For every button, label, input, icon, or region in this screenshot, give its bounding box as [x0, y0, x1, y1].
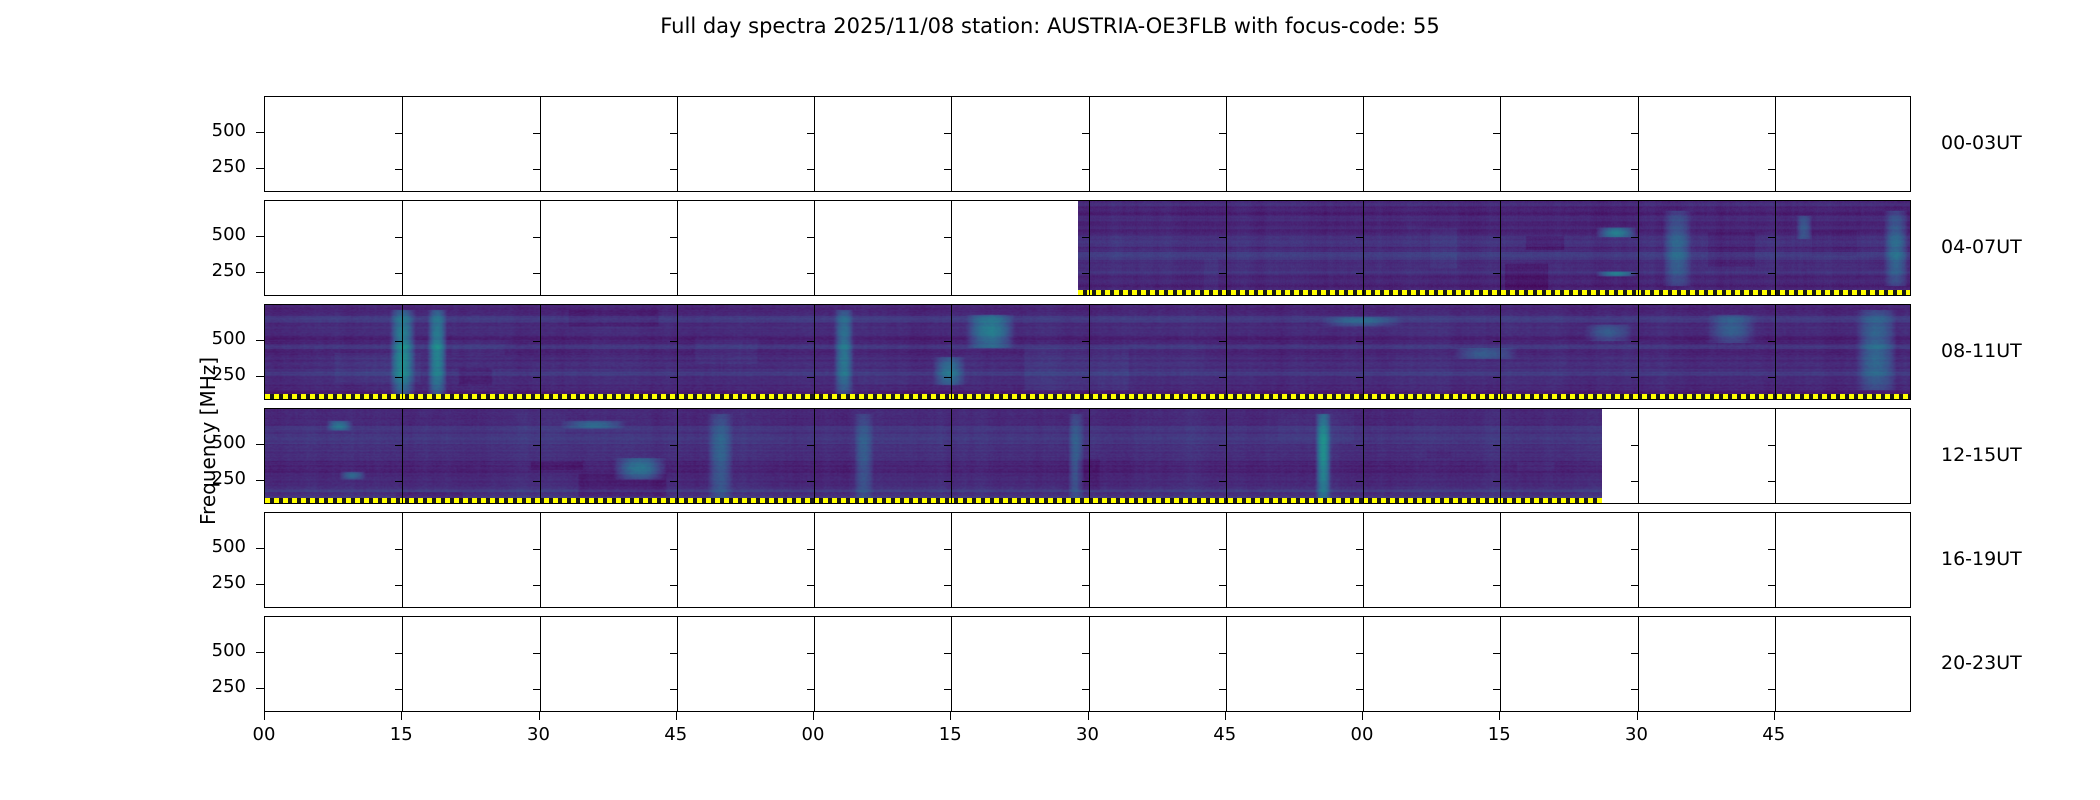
segment-separator: [1638, 513, 1639, 607]
y-tick-inner: [395, 341, 402, 342]
x-tick: [401, 712, 402, 720]
y-tick-inner: [1768, 133, 1775, 134]
y-tick-inner: [533, 481, 540, 482]
y-tick-inner: [944, 445, 951, 446]
segment-separator: [1363, 617, 1364, 711]
y-tick-inner: [1356, 549, 1363, 550]
x-tick: [1362, 712, 1363, 720]
segment-separator: [1500, 97, 1501, 191]
y-tick-inner: [1219, 549, 1226, 550]
y-tick-inner: [1768, 689, 1775, 690]
segment-separator: [677, 513, 678, 607]
segment-separator: [1226, 409, 1227, 503]
spectrogram-row-1215ut: [264, 408, 1911, 504]
y-tick-inner: [1493, 237, 1500, 238]
y-tick-inner: [1631, 133, 1638, 134]
segment-separator: [814, 409, 815, 503]
y-tick-inner: [1082, 689, 1089, 690]
y-tick-inner: [944, 377, 951, 378]
segment-separator: [1638, 201, 1639, 295]
x-tick: [950, 712, 951, 720]
y-tick-inner: [1082, 341, 1089, 342]
segment-separator: [1363, 513, 1364, 607]
segment-separator: [1500, 513, 1501, 607]
y-tick-label: 250: [154, 156, 246, 177]
segment-separator: [814, 617, 815, 711]
y-tick-inner: [1493, 653, 1500, 654]
segment-separator: [1500, 617, 1501, 711]
segment-separator: [1500, 201, 1501, 295]
y-tick-inner: [1356, 377, 1363, 378]
y-tick-inner: [1356, 169, 1363, 170]
segment-separator: [1089, 513, 1090, 607]
y-tick: [256, 548, 264, 549]
y-tick-inner: [395, 377, 402, 378]
x-tick: [1225, 712, 1226, 720]
y-tick-inner: [1219, 653, 1226, 654]
y-tick-inner: [1768, 341, 1775, 342]
y-tick-inner: [1493, 445, 1500, 446]
y-tick-inner: [1631, 341, 1638, 342]
segment-separator: [1226, 305, 1227, 399]
y-tick: [256, 132, 264, 133]
y-tick-label: 500: [154, 640, 246, 661]
y-tick-inner: [1219, 169, 1226, 170]
y-tick-inner: [944, 273, 951, 274]
y-tick-inner: [1356, 273, 1363, 274]
y-tick: [256, 652, 264, 653]
y-tick-inner: [1082, 481, 1089, 482]
y-tick-inner: [1356, 133, 1363, 134]
x-tick-label: 45: [1734, 724, 1814, 745]
y-tick-inner: [1631, 689, 1638, 690]
y-tick-inner: [1493, 377, 1500, 378]
segment-separator: [1089, 97, 1090, 191]
x-tick: [1088, 712, 1089, 720]
y-tick: [256, 584, 264, 585]
segment-separator: [1500, 409, 1501, 503]
segment-separator: [1638, 305, 1639, 399]
x-tick-label: 45: [636, 724, 716, 745]
y-tick-inner: [1082, 445, 1089, 446]
y-tick-label: 250: [154, 364, 246, 385]
row-label-1215ut: 12-15UT: [1941, 444, 2022, 466]
y-tick-inner: [1082, 273, 1089, 274]
segment-separator: [1638, 617, 1639, 711]
segment-separator: [1363, 201, 1364, 295]
segment-separator: [1775, 305, 1776, 399]
segment-separator: [814, 201, 815, 295]
segment-separator: [402, 305, 403, 399]
y-tick: [256, 688, 264, 689]
y-tick-inner: [670, 237, 677, 238]
y-tick-inner: [1082, 237, 1089, 238]
segment-separator: [1775, 201, 1776, 295]
segment-separator: [1089, 617, 1090, 711]
segment-separator: [1089, 201, 1090, 295]
segment-separator: [951, 305, 952, 399]
y-tick-inner: [395, 237, 402, 238]
segment-separator: [951, 201, 952, 295]
y-tick-inner: [1219, 445, 1226, 446]
y-tick-label: 250: [154, 572, 246, 593]
bottom-marker-line: [265, 498, 1602, 503]
y-tick-inner: [1768, 653, 1775, 654]
spectrogram-data: [265, 409, 1602, 503]
y-tick-inner: [1356, 689, 1363, 690]
y-tick-inner: [1219, 237, 1226, 238]
y-tick-inner: [533, 549, 540, 550]
x-tick-label: 30: [1597, 724, 1677, 745]
y-tick-inner: [944, 549, 951, 550]
y-tick-inner: [1493, 549, 1500, 550]
y-tick-inner: [670, 689, 677, 690]
segment-separator: [677, 201, 678, 295]
segment-separator: [677, 305, 678, 399]
segment-separator: [1226, 617, 1227, 711]
y-tick: [256, 340, 264, 341]
y-tick-inner: [533, 169, 540, 170]
y-tick-inner: [670, 133, 677, 134]
y-tick-label: 250: [154, 676, 246, 697]
y-tick-inner: [533, 341, 540, 342]
segment-separator: [1775, 513, 1776, 607]
y-tick-inner: [807, 273, 814, 274]
y-tick-inner: [944, 689, 951, 690]
segment-separator: [540, 201, 541, 295]
row-label-0811ut: 08-11UT: [1941, 340, 2022, 362]
y-tick-inner: [1768, 481, 1775, 482]
y-tick-inner: [807, 689, 814, 690]
y-tick-inner: [1356, 341, 1363, 342]
y-tick-label: 500: [154, 224, 246, 245]
x-tick-label: 00: [773, 724, 853, 745]
y-tick-inner: [395, 169, 402, 170]
spectrogram-data: [1078, 201, 1911, 295]
segment-separator: [1363, 97, 1364, 191]
segment-separator: [677, 97, 678, 191]
y-tick-inner: [1219, 273, 1226, 274]
y-tick-inner: [533, 585, 540, 586]
x-tick: [1774, 712, 1775, 720]
spectrogram-canvas: [1078, 201, 1911, 295]
y-tick-inner: [807, 133, 814, 134]
y-tick-inner: [533, 237, 540, 238]
y-tick-inner: [1356, 653, 1363, 654]
segment-separator: [1638, 97, 1639, 191]
y-tick-inner: [1631, 273, 1638, 274]
y-tick-label: 250: [154, 468, 246, 489]
y-tick-inner: [1082, 585, 1089, 586]
y-tick-inner: [1493, 169, 1500, 170]
segment-separator: [1089, 305, 1090, 399]
y-tick: [256, 272, 264, 273]
segment-separator: [402, 617, 403, 711]
segment-separator: [814, 513, 815, 607]
segment-separator: [1089, 409, 1090, 503]
segment-separator: [1638, 409, 1639, 503]
y-tick-inner: [533, 653, 540, 654]
spectrogram-figure: Full day spectra 2025/11/08 station: AUS…: [0, 0, 2100, 800]
y-tick-inner: [1631, 481, 1638, 482]
y-tick-inner: [944, 585, 951, 586]
y-tick-inner: [1356, 481, 1363, 482]
y-tick-inner: [395, 585, 402, 586]
row-label-0003ut: 00-03UT: [1941, 132, 2022, 154]
y-tick-inner: [807, 653, 814, 654]
y-tick-inner: [533, 689, 540, 690]
y-tick-inner: [670, 169, 677, 170]
segment-separator: [540, 617, 541, 711]
y-tick-inner: [1219, 133, 1226, 134]
y-tick-inner: [1493, 341, 1500, 342]
y-tick-inner: [395, 689, 402, 690]
y-tick: [256, 236, 264, 237]
y-tick-inner: [807, 169, 814, 170]
spectrogram-canvas: [265, 409, 1602, 503]
y-tick-inner: [1219, 481, 1226, 482]
y-tick-inner: [1219, 689, 1226, 690]
spectrogram-row-2023ut: [264, 616, 1911, 712]
segment-separator: [1226, 513, 1227, 607]
y-tick-inner: [1082, 377, 1089, 378]
row-label-1619ut: 16-19UT: [1941, 548, 2022, 570]
y-tick-inner: [395, 133, 402, 134]
x-tick-label: 45: [1185, 724, 1265, 745]
y-tick-inner: [395, 653, 402, 654]
y-tick-inner: [670, 549, 677, 550]
y-tick-inner: [533, 445, 540, 446]
y-tick: [256, 444, 264, 445]
x-tick: [813, 712, 814, 720]
x-tick-label: 15: [361, 724, 441, 745]
y-tick-inner: [533, 133, 540, 134]
x-tick-label: 15: [910, 724, 990, 745]
y-tick-inner: [944, 133, 951, 134]
y-tick-inner: [1631, 237, 1638, 238]
y-tick-inner: [1768, 169, 1775, 170]
row-label-2023ut: 20-23UT: [1941, 652, 2022, 674]
y-tick-inner: [670, 481, 677, 482]
x-tick: [539, 712, 540, 720]
y-tick-inner: [1768, 549, 1775, 550]
y-tick-inner: [395, 445, 402, 446]
spectrogram-row-0407ut: [264, 200, 1911, 296]
y-tick-inner: [1356, 585, 1363, 586]
y-tick-inner: [1631, 653, 1638, 654]
y-tick-inner: [807, 549, 814, 550]
x-tick-label: 00: [1322, 724, 1402, 745]
y-tick-inner: [807, 481, 814, 482]
y-tick-inner: [670, 585, 677, 586]
y-tick-inner: [944, 481, 951, 482]
segment-separator: [677, 617, 678, 711]
y-tick-label: 500: [154, 432, 246, 453]
y-tick-inner: [807, 237, 814, 238]
segment-separator: [1500, 305, 1501, 399]
y-tick-label: 500: [154, 536, 246, 557]
y-tick: [256, 376, 264, 377]
y-tick-inner: [1493, 133, 1500, 134]
x-tick-label: 15: [1459, 724, 1539, 745]
y-tick-inner: [1219, 377, 1226, 378]
y-tick-inner: [1768, 377, 1775, 378]
segment-separator: [951, 409, 952, 503]
x-tick: [1637, 712, 1638, 720]
y-tick-inner: [1768, 273, 1775, 274]
y-tick: [256, 168, 264, 169]
x-tick-label: 00: [224, 724, 304, 745]
y-tick-inner: [395, 481, 402, 482]
y-tick-inner: [944, 237, 951, 238]
y-tick-inner: [807, 341, 814, 342]
segment-separator: [814, 97, 815, 191]
y-tick-inner: [944, 169, 951, 170]
segment-separator: [540, 409, 541, 503]
y-tick-inner: [670, 377, 677, 378]
segment-separator: [540, 513, 541, 607]
segment-separator: [402, 201, 403, 295]
y-tick-inner: [670, 445, 677, 446]
segment-separator: [951, 97, 952, 191]
y-tick-label: 500: [154, 328, 246, 349]
segment-separator: [402, 513, 403, 607]
y-tick-inner: [1082, 653, 1089, 654]
y-tick-inner: [1768, 445, 1775, 446]
y-tick-label: 250: [154, 260, 246, 281]
segment-separator: [1775, 617, 1776, 711]
segment-separator: [1363, 305, 1364, 399]
y-tick-inner: [670, 653, 677, 654]
y-tick-inner: [1631, 585, 1638, 586]
y-tick-inner: [1493, 585, 1500, 586]
y-tick-inner: [533, 377, 540, 378]
y-tick-inner: [1493, 481, 1500, 482]
spectrogram-row-1619ut: [264, 512, 1911, 608]
segment-separator: [1226, 97, 1227, 191]
y-tick-inner: [944, 341, 951, 342]
y-tick-inner: [807, 585, 814, 586]
segment-separator: [402, 409, 403, 503]
x-tick-label: 30: [499, 724, 579, 745]
y-tick-inner: [1356, 445, 1363, 446]
y-tick-inner: [1356, 237, 1363, 238]
y-tick-inner: [807, 377, 814, 378]
y-tick-inner: [1768, 237, 1775, 238]
x-tick: [1499, 712, 1500, 720]
y-tick-inner: [1631, 377, 1638, 378]
y-tick-inner: [1082, 169, 1089, 170]
y-tick-inner: [807, 445, 814, 446]
spectrogram-row-0811ut: [264, 304, 1911, 400]
y-tick-inner: [1493, 273, 1500, 274]
segment-separator: [540, 97, 541, 191]
y-tick-inner: [395, 549, 402, 550]
y-tick-inner: [395, 273, 402, 274]
segment-separator: [951, 617, 952, 711]
y-tick-inner: [1082, 133, 1089, 134]
segment-separator: [951, 513, 952, 607]
segment-separator: [540, 305, 541, 399]
y-tick: [256, 480, 264, 481]
bottom-marker-line: [1078, 290, 1911, 295]
y-tick-inner: [1219, 341, 1226, 342]
row-label-0407ut: 04-07UT: [1941, 236, 2022, 258]
x-tick: [264, 712, 265, 720]
y-tick-inner: [1631, 445, 1638, 446]
page-title: Full day spectra 2025/11/08 station: AUS…: [0, 14, 2100, 38]
segment-separator: [402, 97, 403, 191]
segment-separator: [677, 409, 678, 503]
x-tick-label: 30: [1048, 724, 1128, 745]
segment-separator: [1363, 409, 1364, 503]
y-tick-inner: [670, 341, 677, 342]
y-tick-inner: [1082, 549, 1089, 550]
segment-separator: [1775, 97, 1776, 191]
y-tick-inner: [1631, 169, 1638, 170]
x-tick: [676, 712, 677, 720]
y-tick-inner: [1219, 585, 1226, 586]
y-tick-inner: [1493, 689, 1500, 690]
segment-separator: [1775, 409, 1776, 503]
y-tick-inner: [533, 273, 540, 274]
spectrogram-row-0003ut: [264, 96, 1911, 192]
y-tick-inner: [1631, 549, 1638, 550]
segment-separator: [1226, 201, 1227, 295]
y-tick-inner: [944, 653, 951, 654]
y-tick-label: 500: [154, 120, 246, 141]
y-tick-inner: [670, 273, 677, 274]
y-tick-inner: [1768, 585, 1775, 586]
segment-separator: [814, 305, 815, 399]
